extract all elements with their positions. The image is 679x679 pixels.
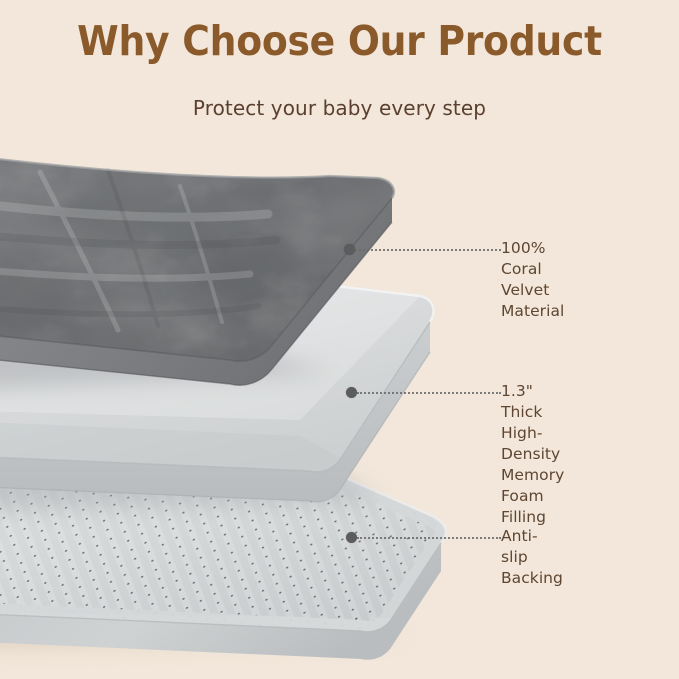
callout-marker-dot-icon: [346, 532, 357, 543]
callout-label-memory-foam: 1.3" Thick High-Density Memory Foam Fill…: [501, 381, 564, 528]
callout-marker-dot-icon: [344, 244, 355, 255]
product-infographic: Why Choose Our Product Protect your baby…: [0, 0, 679, 679]
product-layer-illustration: [0, 0, 679, 679]
callout-leader-line: [355, 249, 501, 251]
callout-marker-dot-icon: [346, 387, 357, 398]
callout-leader-line: [357, 537, 501, 539]
callout-label-velvet: 100% Coral Velvet Material: [501, 238, 564, 322]
callout-leader-line: [357, 392, 501, 394]
callout-label-anti-slip: Anti-slip Backing: [501, 526, 563, 589]
